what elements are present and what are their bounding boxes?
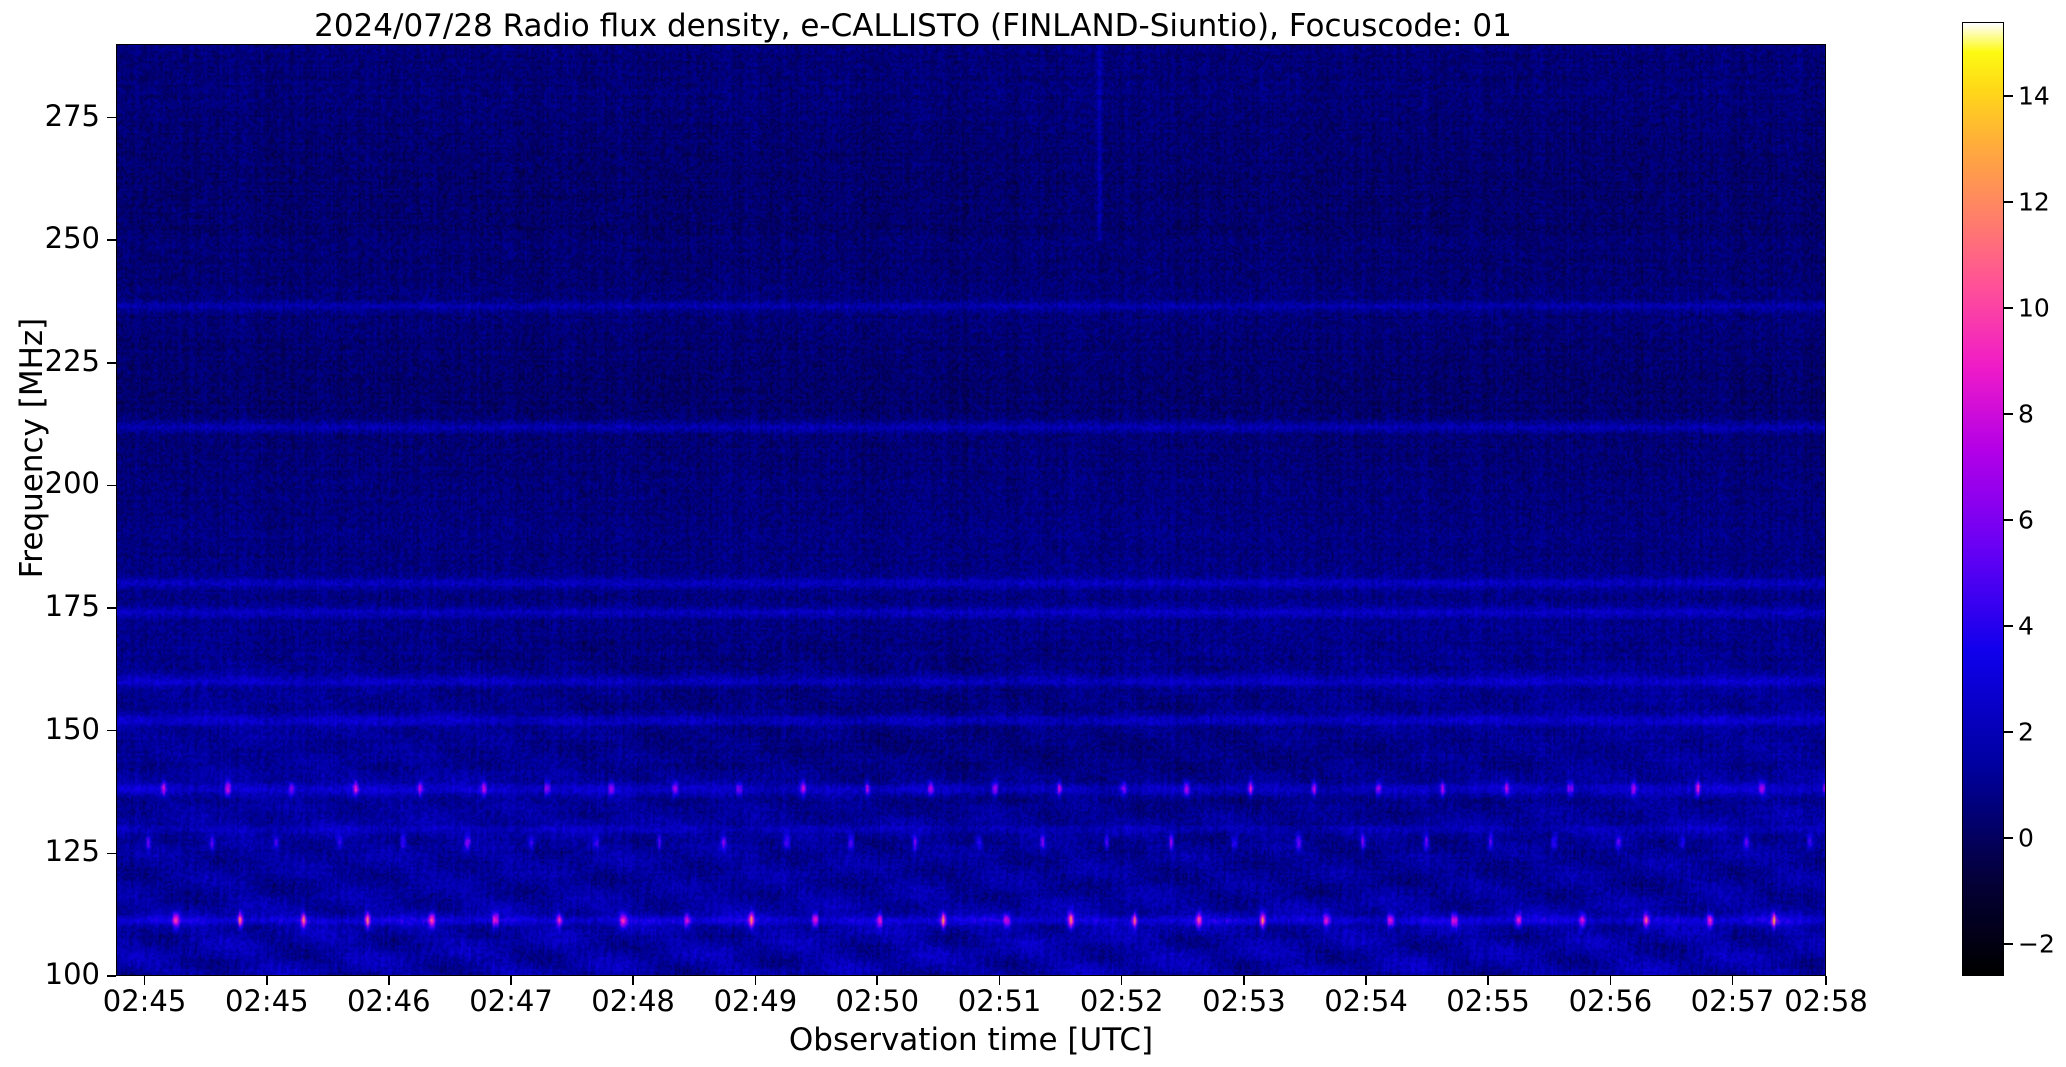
y-tick-mark (107, 607, 116, 609)
y-tick-label: 100 (6, 957, 100, 991)
colorbar-tick-mark (2004, 201, 2013, 203)
colorbar-tick-label: 14 (2018, 82, 2050, 111)
colorbar-tick-label: 4 (2018, 612, 2034, 641)
colorbar-tick-mark (2004, 519, 2013, 521)
y-tick-mark (107, 117, 116, 119)
colorbar-tick-mark (2004, 625, 2013, 627)
y-tick-label: 275 (6, 99, 100, 133)
y-tick-mark (107, 239, 116, 241)
y-tick-mark (107, 853, 116, 855)
y-tick-label: 150 (6, 712, 100, 746)
y-tick-label: 125 (6, 834, 100, 868)
x-tick-label: 02:52 (1080, 984, 1164, 1018)
colorbar-tick-label: 2 (2018, 718, 2034, 747)
colorbar-tick-label: 10 (2018, 294, 2050, 323)
colorbar-tick-label: 0 (2018, 824, 2034, 853)
colorbar-tick-mark (2004, 731, 2013, 733)
x-tick-label: 02:55 (1446, 984, 1530, 1018)
x-tick-label: 02:50 (835, 984, 919, 1018)
x-axis-label: Observation time [UTC] (116, 1022, 1826, 1058)
y-tick-mark (107, 730, 116, 732)
colorbar-tick-mark (2004, 943, 2013, 945)
x-tick-label: 02:47 (469, 984, 553, 1018)
x-tick-label: 02:53 (1202, 984, 1286, 1018)
colorbar-tick-mark (2004, 95, 2013, 97)
colorbar[interactable]: 14121086420−2 (1962, 22, 2004, 976)
colorbar-tick-label: 6 (2018, 506, 2034, 535)
colorbar-tick-mark (2004, 307, 2013, 309)
colorbar-gradient (1962, 22, 2004, 976)
colorbar-tick-label: 8 (2018, 400, 2034, 429)
colorbar-tick-mark (2004, 837, 2013, 839)
colorbar-tick-mark (2004, 413, 2013, 415)
x-tick-label: 02:45 (103, 984, 187, 1018)
x-tick-label: 02:58 (1784, 984, 1868, 1018)
colorbar-tick-label: −2 (2018, 930, 2055, 959)
y-tick-mark (107, 362, 116, 364)
x-tick-label: 02:51 (958, 984, 1042, 1018)
y-axis-label: Frequency [MHz] (14, 248, 50, 648)
x-tick-label: 02:46 (347, 984, 431, 1018)
y-tick-mark (107, 975, 116, 977)
x-tick-label: 02:45 (225, 984, 309, 1018)
x-tick-label: 02:56 (1569, 984, 1653, 1018)
spectrogram-image (117, 45, 1825, 975)
x-tick-label: 02:48 (591, 984, 675, 1018)
colorbar-tick-label: 12 (2018, 188, 2050, 217)
y-tick-mark (107, 485, 116, 487)
x-tick-label: 02:57 (1691, 984, 1775, 1018)
spectrogram-axes[interactable] (116, 44, 1826, 976)
figure-canvas: 2024/07/28 Radio flux density, e-CALLIST… (0, 0, 2066, 1067)
x-tick-label: 02:49 (714, 984, 798, 1018)
page-title: 2024/07/28 Radio flux density, e-CALLIST… (0, 8, 1826, 44)
x-tick-label: 02:54 (1324, 984, 1408, 1018)
